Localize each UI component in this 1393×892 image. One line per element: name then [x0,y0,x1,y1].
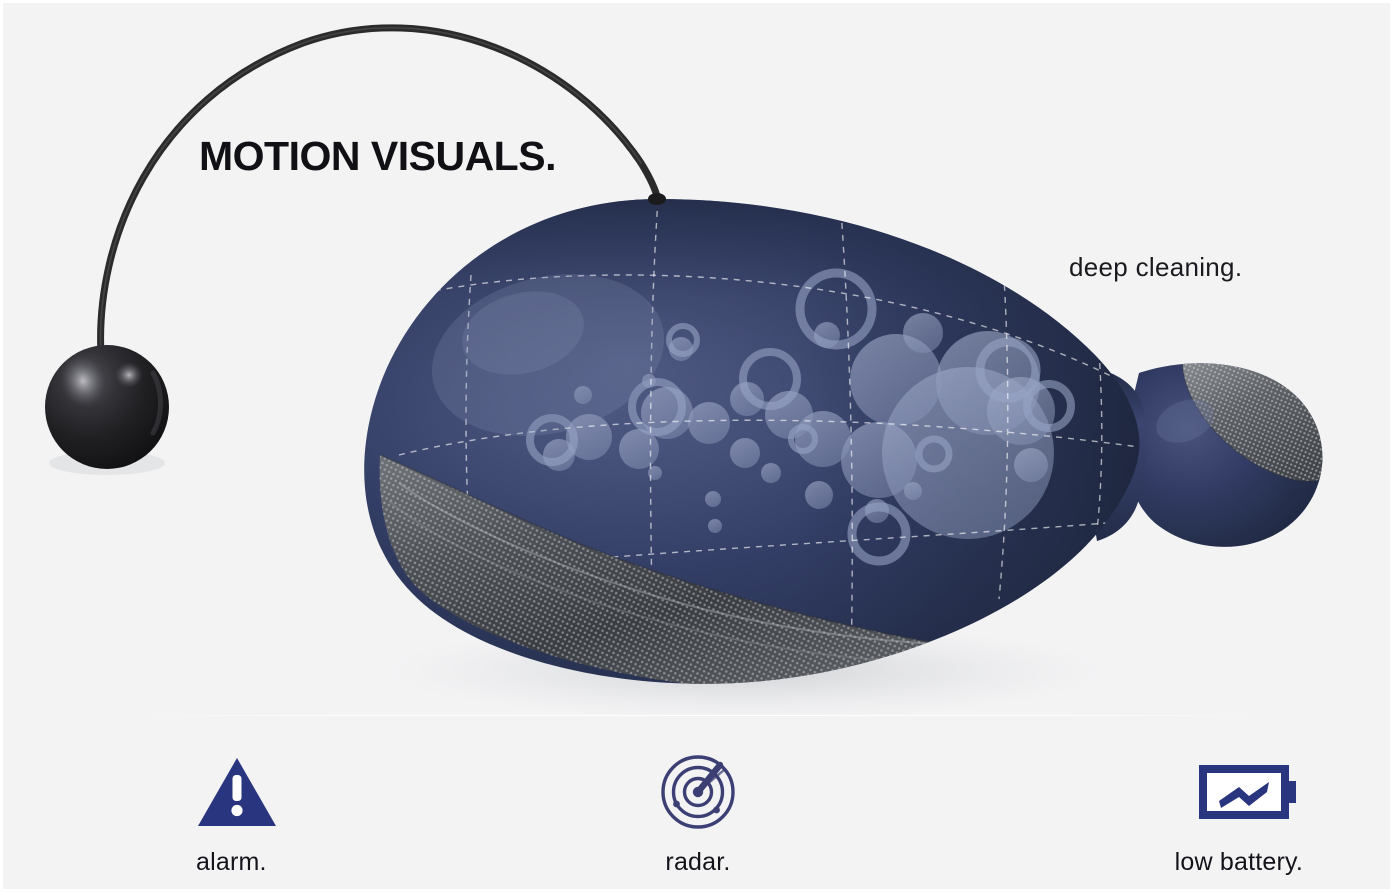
low-battery-icon [1199,761,1303,823]
section-divider [143,715,1258,716]
concept-board: MOTION VISUALS. deep cleaning. alarm. [0,0,1393,892]
deep-cleaning-caption: deep cleaning. [1069,254,1242,280]
feature-row: alarm. radar. [3,717,1393,892]
radar-icon [658,752,738,832]
alarm-label: alarm. [48,849,496,877]
feature-item-alarm[interactable]: alarm. [48,717,348,892]
product-render-stage: MOTION VISUALS. deep cleaning. [3,3,1393,717]
battery-icon-wrap [1003,753,1331,831]
radar-icon-wrap [548,753,848,831]
page-title: MOTION VISUALS. [199,136,556,177]
feature-item-radar[interactable]: radar. [548,717,848,892]
alarm-triangle-icon [196,755,278,829]
feature-item-low-battery[interactable]: low battery. [1003,717,1303,892]
alarm-icon-wrap [48,753,496,831]
device-tail-bulb [1126,354,1344,547]
radar-label: radar. [548,849,848,877]
device-body [343,183,1163,703]
product-illustration [3,3,1393,717]
low-battery-label: low battery. [1003,849,1331,877]
pendulum-ball [45,345,169,475]
